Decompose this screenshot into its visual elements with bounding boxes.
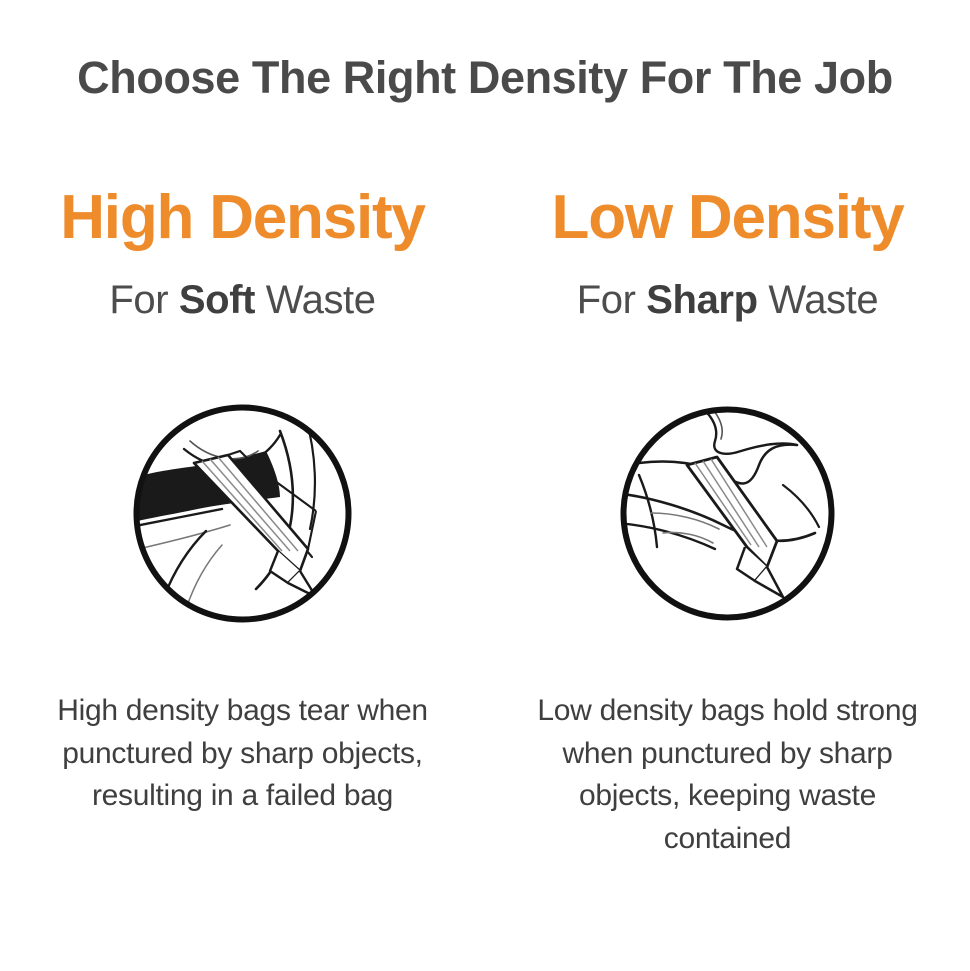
- bag-punctured-torn-icon: [130, 401, 355, 626]
- subtitle-emphasis: Soft: [179, 278, 255, 322]
- bag-punctured-intact-icon: [615, 401, 840, 626]
- subtitle-prefix: For: [109, 278, 179, 322]
- column-low-density: Low Density For Sharp Waste: [485, 185, 970, 860]
- low-density-illustration: [615, 401, 840, 626]
- comparison-columns: High Density For Soft Waste: [0, 185, 970, 860]
- high-density-heading: High Density: [60, 185, 425, 250]
- page-title: Choose The Right Density For The Job: [0, 52, 970, 104]
- subtitle-suffix: Waste: [758, 278, 879, 322]
- subtitle-emphasis: Sharp: [646, 278, 757, 322]
- low-density-heading: Low Density: [552, 185, 904, 250]
- low-density-subtitle: For Sharp Waste: [577, 278, 878, 323]
- column-high-density: High Density For Soft Waste: [0, 185, 485, 818]
- density-comparison-infographic: Choose The Right Density For The Job Hig…: [0, 0, 970, 971]
- low-density-caption: Low density bags hold strong when punctu…: [513, 690, 943, 860]
- high-density-subtitle: For Soft Waste: [109, 278, 375, 323]
- high-density-caption: High density bags tear when punctured by…: [28, 690, 458, 818]
- high-density-illustration: [130, 401, 355, 626]
- subtitle-prefix: For: [577, 278, 647, 322]
- subtitle-suffix: Waste: [255, 278, 376, 322]
